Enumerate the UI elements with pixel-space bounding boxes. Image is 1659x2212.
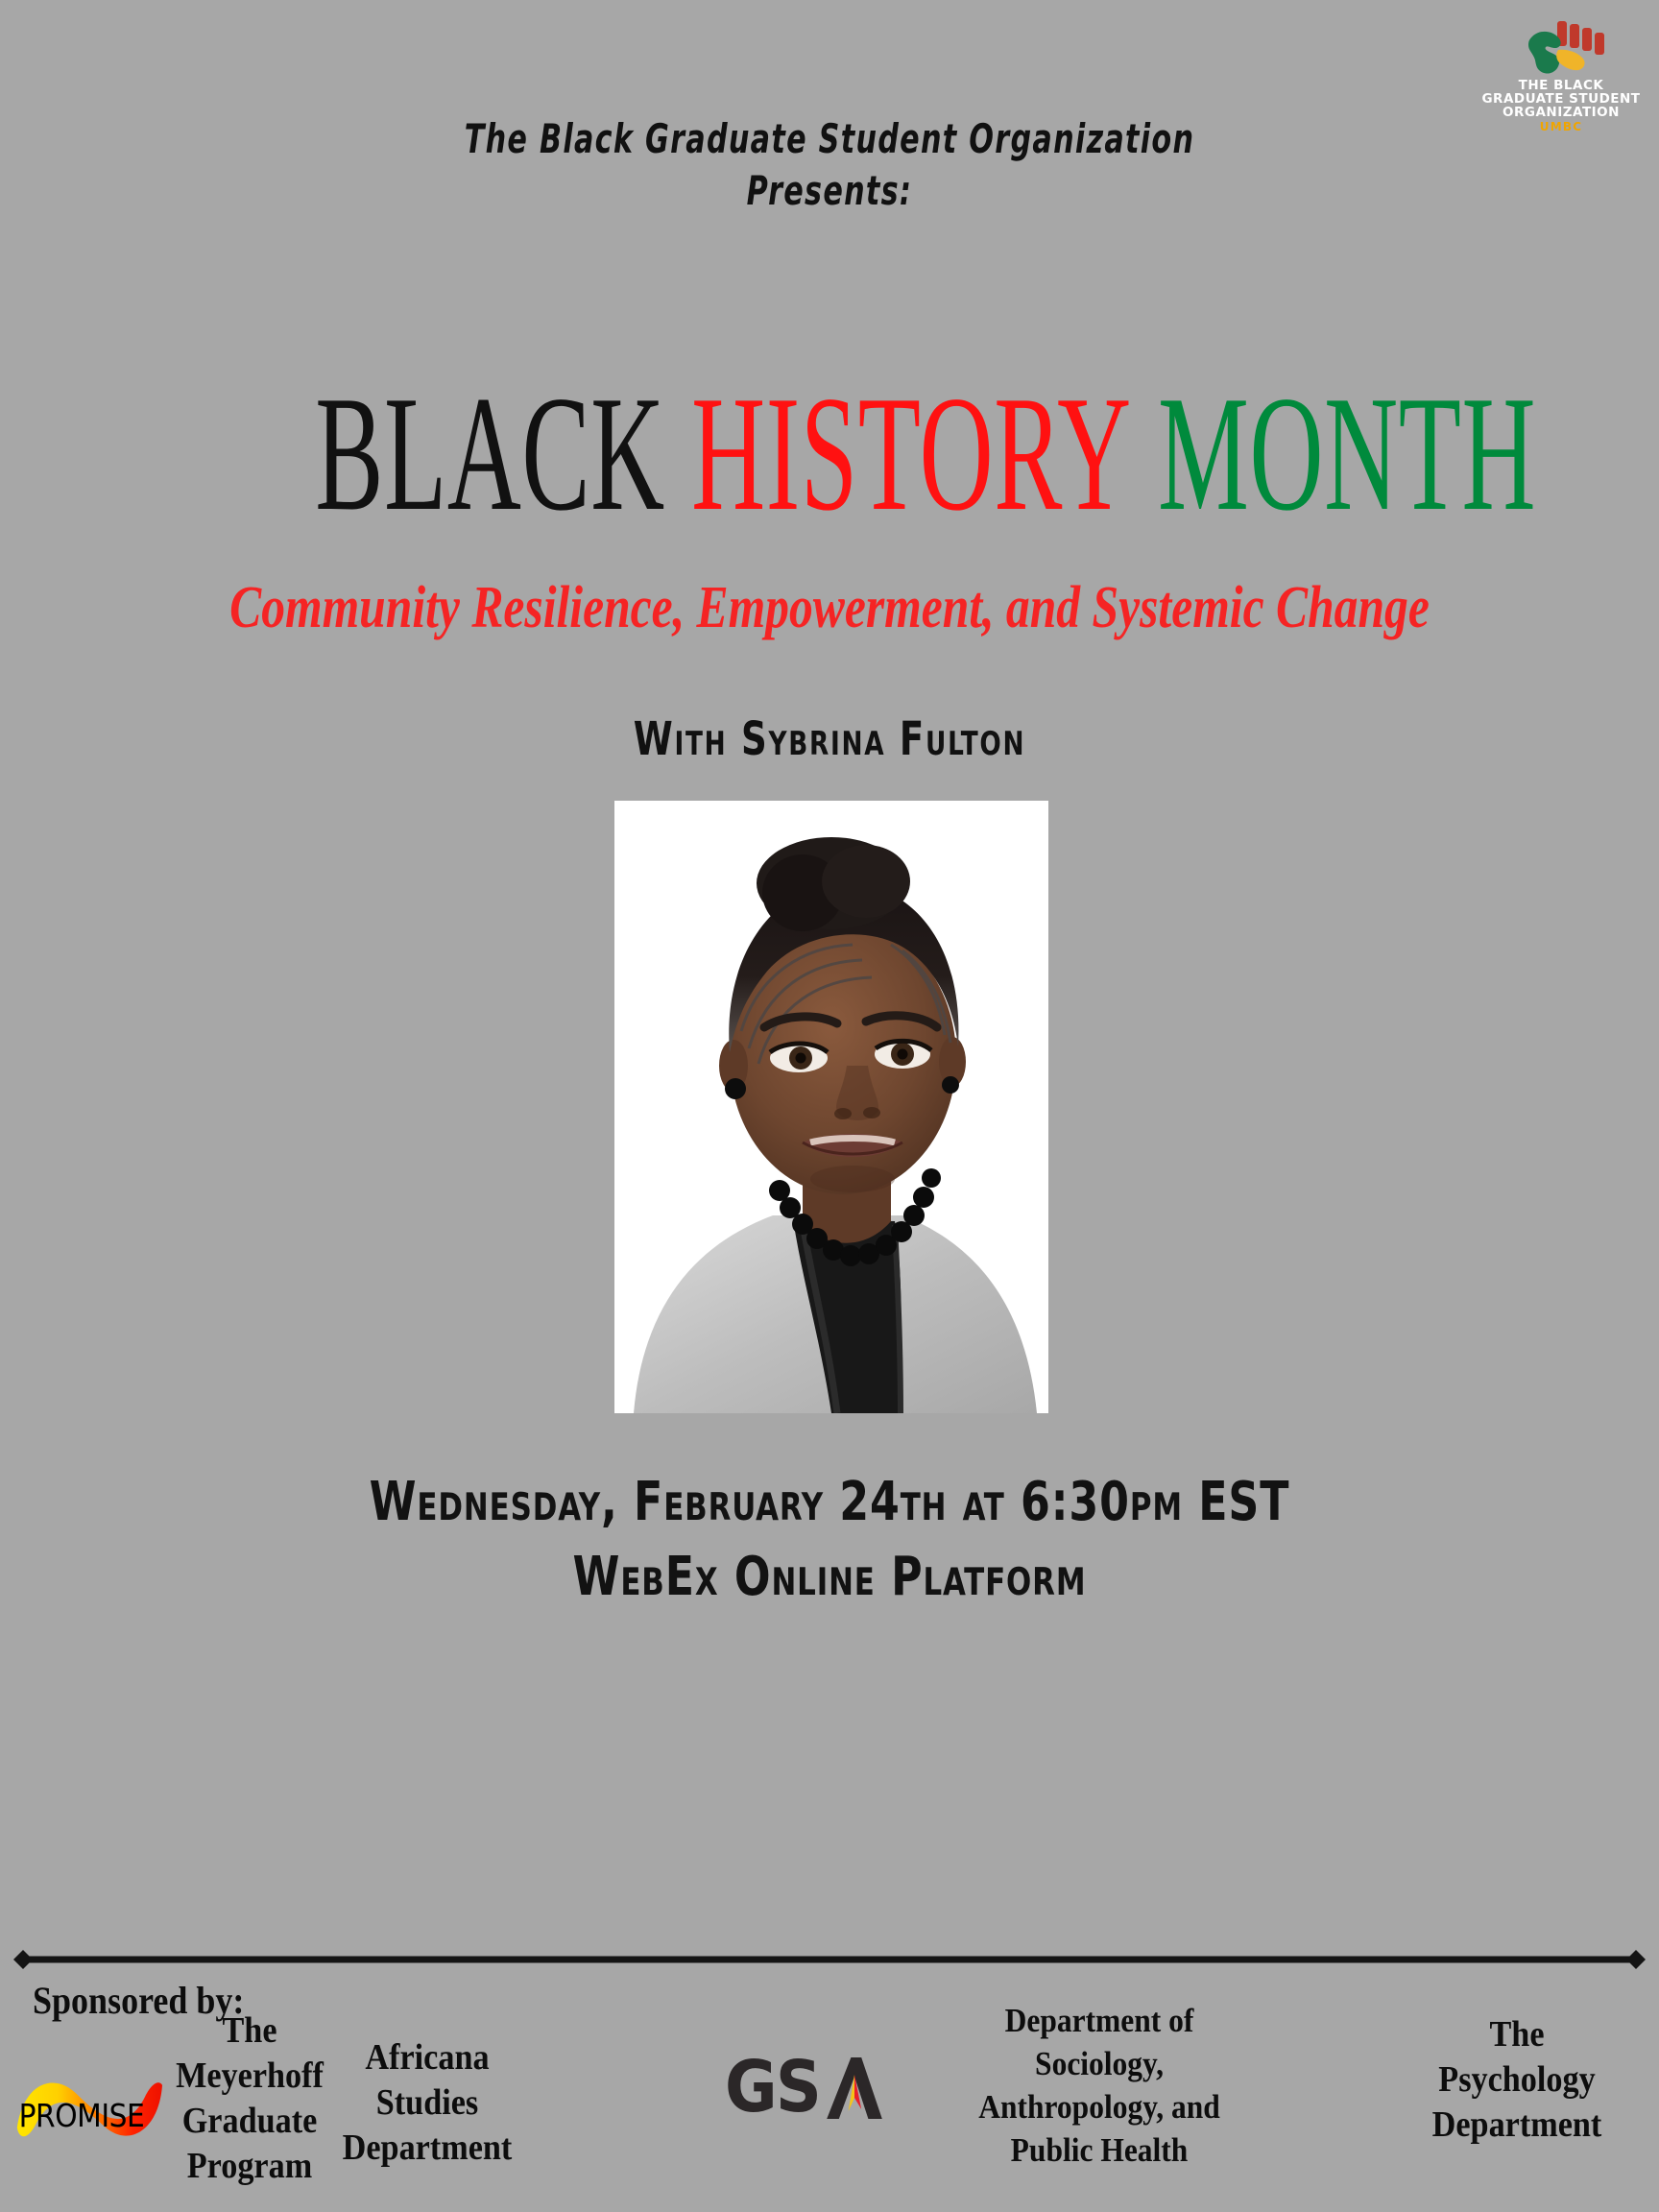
logo-line-1: The Black — [1475, 79, 1647, 92]
gsa-logo-icon: GS — [725, 2050, 885, 2128]
logo-line-2: Graduate Student — [1475, 92, 1647, 106]
event-datetime: Wednesday, February 24th at 6:30pm EST — [100, 1465, 1560, 1540]
raised-fist-africa-icon — [1475, 17, 1647, 77]
title-word-month: MONTH — [1158, 363, 1536, 545]
sponsor-line: Studies — [311, 2080, 544, 2126]
title-word-history: HISTORY — [691, 363, 1132, 545]
event-details: Wednesday, February 24th at 6:30pm EST W… — [100, 1465, 1560, 1615]
promise-logo-label: PROMISE — [19, 2093, 164, 2138]
sponsor-africana-studies: Africana Studies Department — [311, 2035, 544, 2171]
sponsor-line: Department — [311, 2126, 544, 2171]
promise-logo-icon: PROMISE — [15, 2064, 164, 2151]
logo-school-name: UMBC — [1475, 120, 1647, 133]
speaker-portrait — [614, 801, 1048, 1413]
sponsor-line: Public Health — [974, 2128, 1225, 2172]
presenter-header: The Black Graduate Student Organization … — [166, 113, 1493, 217]
sponsor-psychology: The Psychology Department — [1405, 2012, 1629, 2148]
page-subtitle: Community Resilience, Empowerment, and S… — [166, 571, 1493, 644]
sponsor-line: Psychology — [1405, 2057, 1629, 2103]
presenter-line-2: Presents: — [166, 165, 1493, 217]
sponsor-line: Anthropology, and — [974, 2085, 1225, 2128]
title-word-black: BLACK — [315, 363, 665, 545]
logo-line-3: Organization — [1475, 106, 1647, 119]
presenter-line-1: The Black Graduate Student Organization — [166, 113, 1493, 165]
sponsor-line: Sociology, — [974, 2042, 1225, 2085]
sponsor-sociology-anthropology-public-health: Department of Sociology, Anthropology, a… — [974, 1999, 1225, 2172]
sponsor-gsa: GS — [725, 2050, 898, 2128]
svg-text:GS: GS — [725, 2050, 820, 2128]
page-title: BLACK HISTORY MONTH — [315, 382, 1343, 526]
footer-divider — [0, 1947, 1659, 1972]
sponsor-line: Department — [1405, 2103, 1629, 2148]
event-platform: WebEx Online Platform — [100, 1540, 1560, 1615]
sponsor-line: The — [1405, 2012, 1629, 2057]
bgso-logo: The Black Graduate Student Organization … — [1475, 17, 1647, 152]
speaker-name: With Sybrina Fulton — [116, 712, 1543, 766]
sponsor-line: Department of — [974, 1999, 1225, 2042]
sponsor-line: Africana — [311, 2035, 544, 2080]
